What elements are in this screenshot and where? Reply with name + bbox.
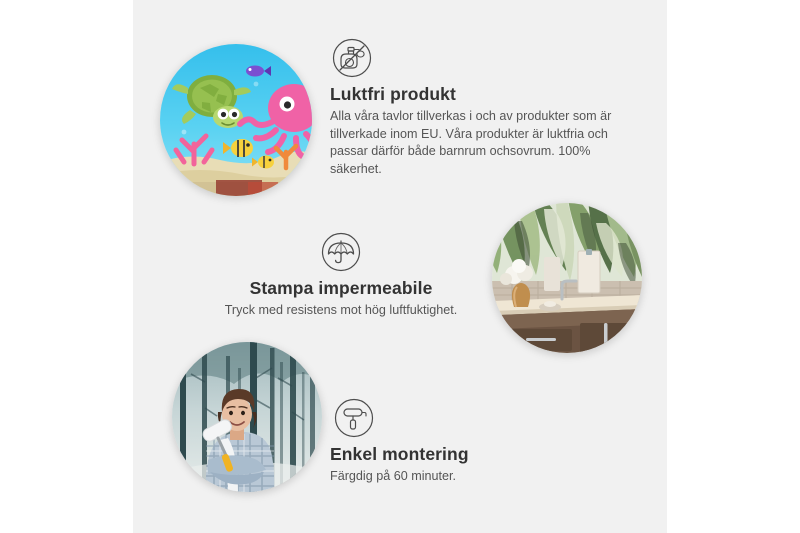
photo-bathroom <box>492 203 642 353</box>
no-fragrance-icon <box>332 38 372 78</box>
product-feature-infographic: Luktfri produkt Alla våra tavlor tillver… <box>0 0 800 533</box>
feature-waterproof: Stampa impermeabile Tryck med resistens … <box>200 232 482 320</box>
paint-roller-icon <box>334 398 374 438</box>
feature-title: Luktfri produkt <box>330 84 630 105</box>
photo-underwater <box>160 44 312 196</box>
feature-title: Enkel montering <box>330 444 620 465</box>
feature-body: Färgdig på 60 minuter. <box>330 468 620 486</box>
feature-odourless: Luktfri produkt Alla våra tavlor tillver… <box>330 38 630 178</box>
feature-assembly: Enkel montering Färgdig på 60 minuter. <box>330 398 620 486</box>
umbrella-icon <box>321 232 361 272</box>
photo-forest <box>172 342 322 492</box>
feature-body: Tryck med resistens mot hög luftfuktighe… <box>200 302 482 320</box>
feature-body: Alla våra tavlor tillverkas i och av pro… <box>330 108 630 178</box>
feature-title: Stampa impermeabile <box>200 278 482 299</box>
